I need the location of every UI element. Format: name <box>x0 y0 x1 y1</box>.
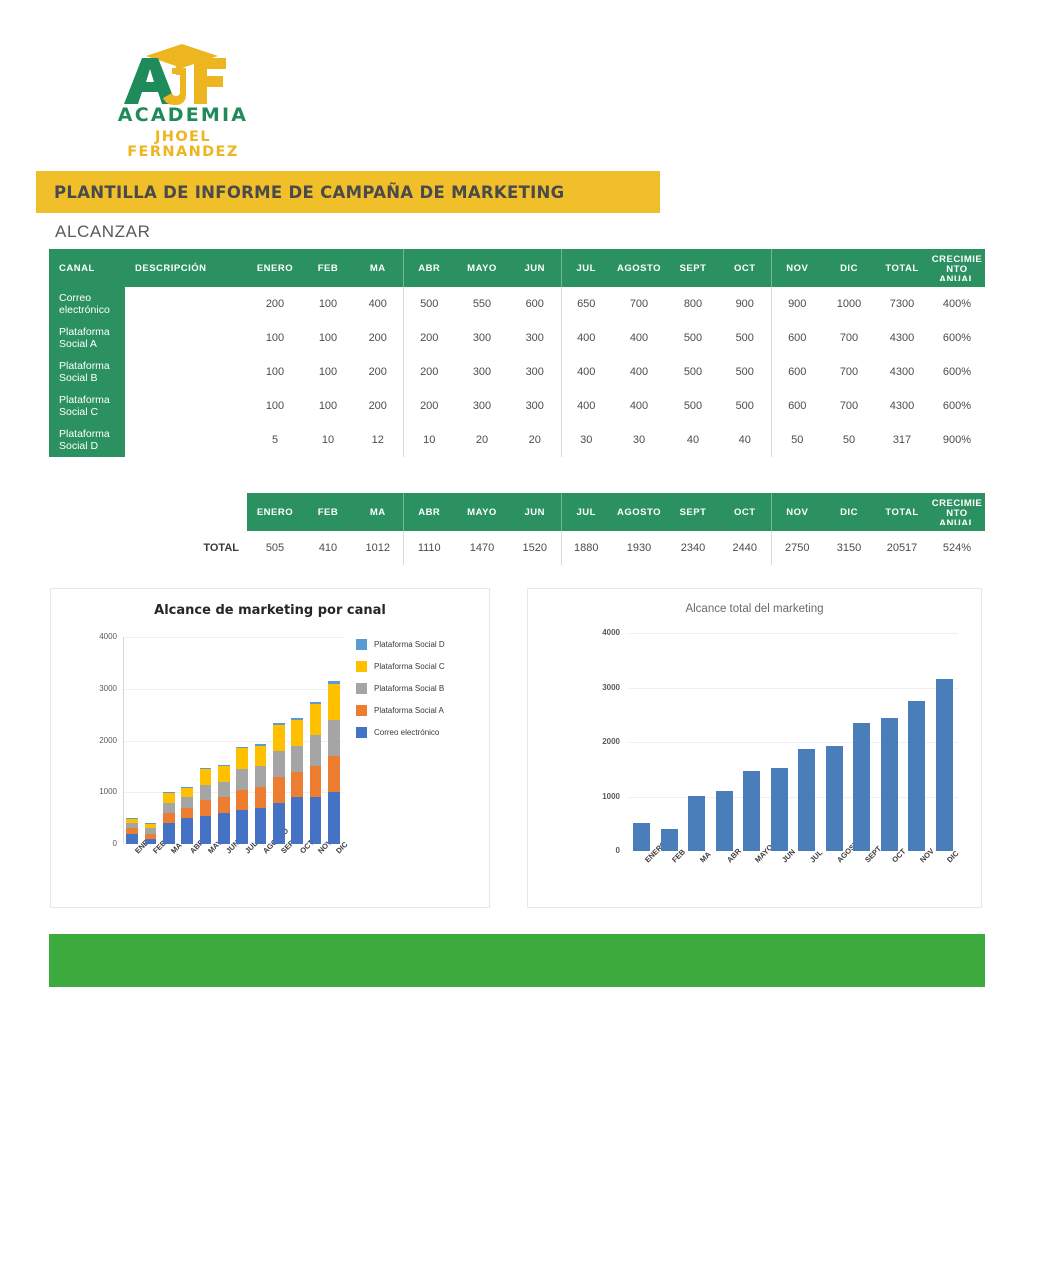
tot-col-sept: SEPT <box>667 493 719 531</box>
page-title: PLANTILLA DE INFORME DE CAMPAÑA DE MARKE… <box>54 183 565 202</box>
chart-bar-segment <box>273 751 284 777</box>
row-month-value: 200 <box>403 355 455 389</box>
chart-bar <box>881 718 898 851</box>
logo-person-name: JHOEL FERNANDEZ <box>108 130 258 159</box>
chart-bar-segment <box>328 681 339 684</box>
table-row: Plataforma Social A100100200200300300400… <box>49 321 985 355</box>
legend-label: Plataforma Social C <box>374 662 445 671</box>
col-feb: FEB <box>303 249 353 287</box>
chart-bar-segment <box>236 810 247 844</box>
col-ma: MA <box>353 249 403 287</box>
totals-table: ENERO FEB MA ABR MAYO JUN JUL AGOSTO SEP… <box>196 493 985 565</box>
row-month-value: 400 <box>611 355 667 389</box>
row-channel-name: Correo electrónico <box>49 287 125 321</box>
row-month-value: 300 <box>509 355 561 389</box>
row-month-value: 900 <box>771 287 823 321</box>
chart-gridline <box>628 688 958 689</box>
reach-table-header: CANAL DESCRIPCIÓN ENERO FEB MA ABR MAYO … <box>49 249 985 287</box>
col-oct: OCT <box>719 249 771 287</box>
col-abr: ABR <box>403 249 455 287</box>
legend-item: Plataforma Social A <box>356 699 445 721</box>
row-channel-name: Plataforma Social A <box>49 321 125 355</box>
chart-panel-by-channel: Alcance de marketing por canal 400030002… <box>50 588 490 908</box>
chart-bar-segment <box>181 787 192 797</box>
totals-header-row: ENERO FEB MA ABR MAYO JUN JUL AGOSTO SEP… <box>196 493 985 531</box>
row-month-value: 700 <box>823 355 875 389</box>
x-axis-tick-label: MA <box>698 850 713 865</box>
chart-bar <box>200 637 211 844</box>
chart-bar-segment <box>236 747 247 749</box>
chart-gridline <box>628 633 958 634</box>
legend-swatch <box>356 639 367 650</box>
col-crecimiento-anual: CRECIMIE NTO ANUAL <box>929 249 985 287</box>
legend-label: Plataforma Social D <box>374 640 445 649</box>
row-month-value: 300 <box>455 321 509 355</box>
row-description <box>125 355 247 389</box>
totals-growth: 524% <box>929 531 985 565</box>
totals-month-value: 1880 <box>561 531 611 565</box>
row-month-value: 300 <box>509 389 561 423</box>
totals-month-value: 410 <box>303 531 353 565</box>
y-axis-tick-label: 0 <box>570 846 620 855</box>
x-axis-tick-label: DIC <box>945 849 961 865</box>
footer-green-bar <box>49 934 985 987</box>
row-month-value: 300 <box>455 389 509 423</box>
col-canal: CANAL <box>49 249 125 287</box>
row-month-value: 500 <box>719 321 771 355</box>
tot-col-ma: MA <box>353 493 403 531</box>
row-total: 4300 <box>875 355 929 389</box>
y-axis-tick-label: 3000 <box>79 684 117 693</box>
totals-row-label: TOTAL <box>196 531 247 565</box>
tot-col-agosto: AGOSTO <box>611 493 667 531</box>
row-month-value: 400 <box>611 389 667 423</box>
logo-wordmark: ACADEMIA JHOEL FERNANDEZ <box>108 106 258 159</box>
chart-bar-segment <box>200 768 211 769</box>
reach-table-body: Correo electrónico2001004005005506006507… <box>49 287 985 457</box>
legend-label: Correo electrónico <box>374 728 439 737</box>
tot-col-mayo: MAYO <box>455 493 509 531</box>
y-axis-tick-label: 0 <box>79 839 117 848</box>
tot-col-jul: JUL <box>561 493 611 531</box>
row-total: 7300 <box>875 287 929 321</box>
chart-bar-segment <box>310 735 321 766</box>
chart-bar-segment <box>181 818 192 844</box>
chart-bar <box>126 637 137 844</box>
col-mayo: MAYO <box>455 249 509 287</box>
row-month-value: 20 <box>509 423 561 457</box>
row-month-value: 200 <box>247 287 303 321</box>
chart-bar-segment <box>200 800 211 816</box>
chart-bar-segment <box>255 808 266 844</box>
logo-ajf-icon <box>114 38 254 110</box>
row-month-value: 500 <box>719 355 771 389</box>
logo-mark-ajf <box>114 38 254 106</box>
row-growth: 600% <box>929 321 985 355</box>
totals-month-value: 1012 <box>353 531 403 565</box>
chart-bar-segment <box>200 769 211 785</box>
chart-bar-segment <box>328 756 339 792</box>
row-total: 4300 <box>875 389 929 423</box>
chart-bar-segment <box>218 782 229 798</box>
totals-month-value: 505 <box>247 531 303 565</box>
y-axis-tick-label: 2000 <box>79 736 117 745</box>
legend-swatch <box>356 727 367 738</box>
chart-bar-segment <box>200 785 211 801</box>
chart-bar-segment <box>163 792 174 802</box>
row-total: 317 <box>875 423 929 457</box>
row-month-value: 700 <box>823 321 875 355</box>
chart-bar-segment <box>145 823 156 824</box>
legend-item: Plataforma Social D <box>356 633 445 655</box>
row-month-value: 10 <box>403 423 455 457</box>
row-total: 4300 <box>875 321 929 355</box>
row-growth: 900% <box>929 423 985 457</box>
chart-bar <box>936 679 953 851</box>
chart-bar-segment <box>236 748 247 769</box>
totals-month-value: 1470 <box>455 531 509 565</box>
row-month-value: 1000 <box>823 287 875 321</box>
chart-bar-segment <box>328 684 339 720</box>
row-month-value: 50 <box>823 423 875 457</box>
tot-col-dic: DIC <box>823 493 875 531</box>
chart-bar-segment <box>310 702 321 705</box>
row-month-value: 200 <box>353 321 403 355</box>
row-month-value: 50 <box>771 423 823 457</box>
chart-bar-segment <box>255 766 266 787</box>
chart-bar <box>716 791 733 851</box>
chart-bar-segment <box>145 834 156 839</box>
row-description <box>125 321 247 355</box>
row-month-value: 700 <box>823 389 875 423</box>
chart-bar-segment <box>291 797 302 844</box>
y-axis-line <box>123 637 124 844</box>
legend-swatch <box>356 705 367 716</box>
chart-bar <box>218 637 229 844</box>
row-month-value: 400 <box>611 321 667 355</box>
chart-bar <box>633 823 650 851</box>
col-jun: JUN <box>509 249 561 287</box>
row-channel-name: Plataforma Social C <box>49 389 125 423</box>
row-month-value: 100 <box>247 321 303 355</box>
row-month-value: 200 <box>403 389 455 423</box>
totals-month-value: 1110 <box>403 531 455 565</box>
row-description <box>125 287 247 321</box>
tot-col-total: TOTAL <box>875 493 929 531</box>
totals-row: TOTAL50541010121110147015201880193023402… <box>196 531 985 565</box>
row-month-value: 200 <box>353 389 403 423</box>
row-month-value: 500 <box>667 355 719 389</box>
row-month-value: 500 <box>719 389 771 423</box>
chart-bar <box>291 637 302 844</box>
chart-bar <box>145 637 156 844</box>
row-channel-name: Plataforma Social D <box>49 423 125 457</box>
growth-header-line2: NTO <box>946 264 967 275</box>
legend-item: Plataforma Social B <box>356 677 445 699</box>
col-sept: SEPT <box>667 249 719 287</box>
growth-header-line3: ANUAL <box>929 275 985 281</box>
chart-bar-segment <box>181 808 192 818</box>
table-row: Plataforma Social B100100200200300300400… <box>49 355 985 389</box>
chart-bar-segment <box>273 723 284 725</box>
reach-table: CANAL DESCRIPCIÓN ENERO FEB MA ABR MAYO … <box>49 249 985 457</box>
row-month-value: 100 <box>303 355 353 389</box>
chart-bar-segment <box>181 787 192 788</box>
chart-bar <box>743 771 760 851</box>
total-bar-plot: 40003000200010000ENEROFEBMAABRMAYOJUNJUL… <box>528 589 983 909</box>
y-axis-tick-label: 3000 <box>570 683 620 692</box>
legend-swatch <box>356 683 367 694</box>
legend-item: Plataforma Social C <box>356 655 445 677</box>
chart-bar <box>310 637 321 844</box>
chart-panel-total: Alcance total del marketing 400030002000… <box>527 588 982 908</box>
row-month-value: 400 <box>561 389 611 423</box>
totals-blank-corner <box>196 493 247 531</box>
row-month-value: 100 <box>303 287 353 321</box>
row-month-value: 100 <box>247 355 303 389</box>
row-month-value: 30 <box>611 423 667 457</box>
totals-month-value: 2750 <box>771 531 823 565</box>
y-axis-tick-label: 1000 <box>570 792 620 801</box>
totals-month-value: 1520 <box>509 531 561 565</box>
legend-item: Correo electrónico <box>356 721 445 743</box>
chart-bar-segment <box>163 803 174 813</box>
row-month-value: 900 <box>719 287 771 321</box>
row-month-value: 300 <box>509 321 561 355</box>
totals-month-value: 2440 <box>719 531 771 565</box>
row-month-value: 30 <box>561 423 611 457</box>
row-month-value: 500 <box>403 287 455 321</box>
chart-bar-segment <box>310 797 321 844</box>
chart-bar-segment <box>126 823 137 828</box>
row-month-value: 20 <box>455 423 509 457</box>
chart-bar-segment <box>291 746 302 772</box>
totals-month-value: 2340 <box>667 531 719 565</box>
y-axis-tick-label: 4000 <box>79 632 117 641</box>
y-axis-tick-label: 4000 <box>570 628 620 637</box>
chart-bar-segment <box>218 765 229 766</box>
totals-month-value: 1930 <box>611 531 667 565</box>
chart-bar-segment <box>328 792 339 844</box>
totals-month-value: 3150 <box>823 531 875 565</box>
chart-bar-segment <box>273 725 284 751</box>
chart-bar-segment <box>310 704 321 735</box>
legend-label: Plataforma Social B <box>374 684 444 693</box>
row-month-value: 600 <box>771 355 823 389</box>
col-dic: DIC <box>823 249 875 287</box>
totals-grand-total: 20517 <box>875 531 929 565</box>
row-month-value: 400 <box>561 321 611 355</box>
row-month-value: 400 <box>561 355 611 389</box>
chart-bar-segment <box>200 816 211 844</box>
tot-col-feb: FEB <box>303 493 353 531</box>
row-description <box>125 423 247 457</box>
row-description <box>125 389 247 423</box>
row-month-value: 100 <box>247 389 303 423</box>
row-growth: 600% <box>929 389 985 423</box>
chart-bar <box>826 746 843 851</box>
row-month-value: 600 <box>771 389 823 423</box>
tot-col-enero: ENERO <box>247 493 303 531</box>
chart-bar <box>771 768 788 851</box>
row-month-value: 5 <box>247 423 303 457</box>
totals-table-body: TOTAL50541010121110147015201880193023402… <box>196 531 985 565</box>
chart-legend: Plataforma Social DPlataforma Social CPl… <box>356 633 445 743</box>
chart-bar-segment <box>291 772 302 798</box>
col-nov: NOV <box>771 249 823 287</box>
row-month-value: 650 <box>561 287 611 321</box>
chart-bar-segment <box>273 803 284 844</box>
col-agosto: AGOSTO <box>611 249 667 287</box>
chart-bar-segment <box>126 828 137 833</box>
page-title-banner: PLANTILLA DE INFORME DE CAMPAÑA DE MARKE… <box>36 171 660 213</box>
chart-bar <box>908 701 925 851</box>
col-descripcion: DESCRIPCIÓN <box>125 249 247 287</box>
chart-bar <box>255 637 266 844</box>
chart-bar-segment <box>145 823 156 828</box>
tot-col-jun: JUN <box>509 493 561 531</box>
chart-bar-segment <box>145 839 156 844</box>
chart-bar-segment <box>163 823 174 844</box>
chart-bar <box>853 723 870 851</box>
y-axis-tick-label: 2000 <box>570 737 620 746</box>
row-month-value: 500 <box>667 389 719 423</box>
row-month-value: 12 <box>353 423 403 457</box>
chart-bar-segment <box>310 766 321 797</box>
chart-bar-segment <box>255 746 266 767</box>
chart-bar-segment <box>218 797 229 813</box>
tot-col-abr: ABR <box>403 493 455 531</box>
row-channel-name: Plataforma Social B <box>49 355 125 389</box>
chart-bar-segment <box>291 720 302 746</box>
row-month-value: 500 <box>667 321 719 355</box>
row-growth: 400% <box>929 287 985 321</box>
table-row: Plataforma Social D510121020203030404050… <box>49 423 985 457</box>
row-month-value: 600 <box>509 287 561 321</box>
tot-col-nov: NOV <box>771 493 823 531</box>
chart-bar-segment <box>236 769 247 790</box>
chart-bar-segment <box>255 744 266 746</box>
chart-bar <box>236 637 247 844</box>
chart-bar <box>661 829 678 851</box>
row-month-value: 10 <box>303 423 353 457</box>
chart-bar-segment <box>126 834 137 844</box>
row-month-value: 100 <box>303 321 353 355</box>
chart-bar-segment <box>181 797 192 807</box>
chart-bar-segment <box>218 813 229 844</box>
tot-growth-header-line2: NTO <box>946 508 967 519</box>
chart-bar <box>163 637 174 844</box>
row-month-value: 40 <box>667 423 719 457</box>
chart-bar-segment <box>145 828 156 833</box>
chart-bar-segment <box>126 818 137 823</box>
row-month-value: 300 <box>455 355 509 389</box>
chart-bar <box>688 796 705 851</box>
col-total: TOTAL <box>875 249 929 287</box>
chart-bar <box>181 637 192 844</box>
legend-swatch <box>356 661 367 672</box>
chart-bar <box>273 637 284 844</box>
row-month-value: 600 <box>771 321 823 355</box>
chart-bar-segment <box>163 813 174 823</box>
chart-bar <box>798 749 815 851</box>
row-month-value: 40 <box>719 423 771 457</box>
chart-bar-segment <box>328 720 339 756</box>
tot-col-oct: OCT <box>719 493 771 531</box>
row-month-value: 800 <box>667 287 719 321</box>
row-growth: 600% <box>929 355 985 389</box>
chart-bar-segment <box>236 790 247 811</box>
table-row: Correo electrónico2001004005005506006507… <box>49 287 985 321</box>
y-axis-tick-label: 1000 <box>79 787 117 796</box>
row-month-value: 200 <box>353 355 403 389</box>
section-label-alcanzar: ALCANZAR <box>55 222 151 242</box>
table-row: Plataforma Social C100100200200300300400… <box>49 389 985 423</box>
chart-bar <box>328 637 339 844</box>
row-month-value: 700 <box>611 287 667 321</box>
row-month-value: 100 <box>303 389 353 423</box>
legend-label: Plataforma Social A <box>374 706 444 715</box>
col-enero: ENERO <box>247 249 303 287</box>
row-month-value: 550 <box>455 287 509 321</box>
chart-bar-segment <box>255 787 266 808</box>
tot-col-crecimiento-anual: CRECIMIE NTO ANUAL <box>929 493 985 531</box>
totals-table-header: ENERO FEB MA ABR MAYO JUN JUL AGOSTO SEP… <box>196 493 985 531</box>
chart-bar-segment <box>273 777 284 803</box>
tot-growth-header-line3: ANUAL <box>929 519 985 525</box>
chart-bar-segment <box>218 766 229 782</box>
col-jul: JUL <box>561 249 611 287</box>
row-month-value: 400 <box>353 287 403 321</box>
chart-bar-segment <box>163 792 174 793</box>
row-month-value: 200 <box>403 321 455 355</box>
table-header-row: CANAL DESCRIPCIÓN ENERO FEB MA ABR MAYO … <box>49 249 985 287</box>
chart-bar-segment <box>291 718 302 720</box>
brand-logo: ACADEMIA JHOEL FERNANDEZ <box>110 38 350 148</box>
